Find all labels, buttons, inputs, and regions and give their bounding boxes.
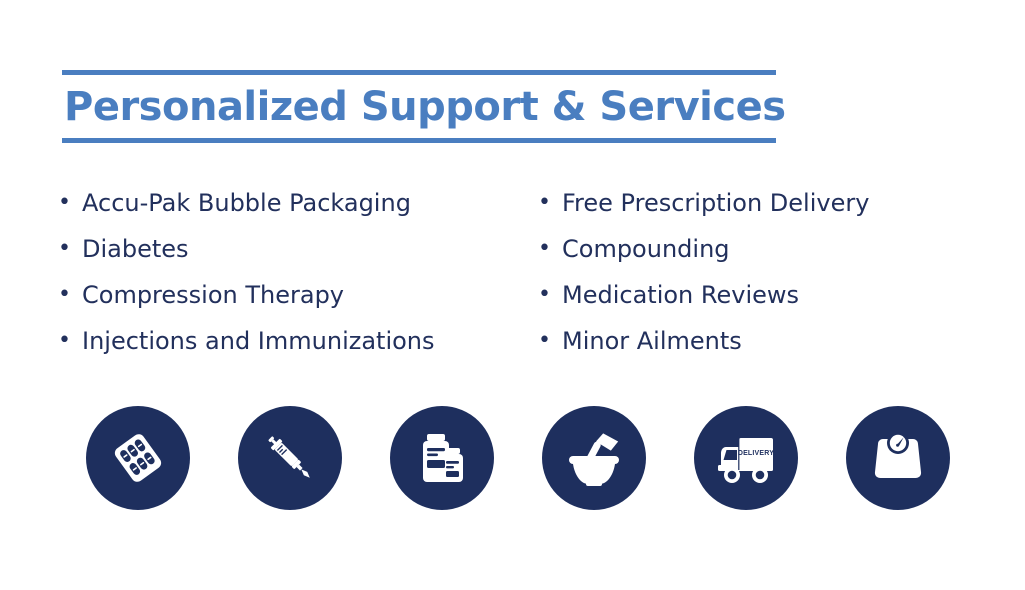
- icon-badge-mortar-pestle: [542, 406, 646, 510]
- list-item-label: Accu-Pak Bubble Packaging: [82, 189, 411, 217]
- services-icon-row: DELIVERY: [86, 406, 950, 510]
- list-item: • Medication Reviews: [536, 272, 976, 318]
- list-item: • Diabetes: [56, 226, 536, 272]
- blister-pack-icon: [106, 426, 170, 490]
- title-rule-top: [62, 70, 776, 75]
- list-item: • Compounding: [536, 226, 976, 272]
- icon-badge-pill-bottles: [390, 406, 494, 510]
- bullet-glyph: •: [58, 226, 71, 272]
- bullet-glyph: •: [538, 318, 551, 364]
- list-item-label: Minor Ailments: [562, 327, 742, 355]
- page-title: Personalized Support & Services: [62, 81, 776, 133]
- bullet-glyph: •: [58, 272, 71, 318]
- list-item: • Injections and Immunizations: [56, 318, 536, 364]
- list-item-label: Free Prescription Delivery: [562, 189, 869, 217]
- list-item-label: Compounding: [562, 235, 730, 263]
- list-item-label: Compression Therapy: [82, 281, 344, 309]
- list-item: • Accu-Pak Bubble Packaging: [56, 180, 536, 226]
- mortar-pestle-icon: [562, 426, 626, 490]
- bullet-glyph: •: [538, 272, 551, 318]
- list-item-label: Injections and Immunizations: [82, 327, 435, 355]
- bullet-glyph: •: [538, 226, 551, 272]
- delivery-truck-icon: DELIVERY: [713, 425, 779, 491]
- list-item-label: Medication Reviews: [562, 281, 799, 309]
- bullet-glyph: •: [538, 180, 551, 226]
- list-item-label: Diabetes: [82, 235, 189, 263]
- title-block: Personalized Support & Services: [62, 70, 776, 143]
- truck-delivery-label: DELIVERY: [738, 450, 774, 457]
- services-column-left: • Accu-Pak Bubble Packaging • Diabetes •…: [56, 180, 536, 364]
- services-panel: Personalized Support & Services • Accu-P…: [0, 0, 1025, 590]
- syringe-icon: [258, 426, 322, 490]
- list-item: • Minor Ailments: [536, 318, 976, 364]
- icon-badge-blister-pack: [86, 406, 190, 510]
- services-lists: • Accu-Pak Bubble Packaging • Diabetes •…: [56, 180, 976, 364]
- weight-scale-icon: [866, 426, 930, 490]
- icon-badge-syringe: [238, 406, 342, 510]
- bullet-glyph: •: [58, 318, 71, 364]
- icon-badge-weight-scale: [846, 406, 950, 510]
- icon-badge-delivery-truck: DELIVERY: [694, 406, 798, 510]
- list-item: • Free Prescription Delivery: [536, 180, 976, 226]
- pill-bottles-icon: [410, 426, 474, 490]
- services-column-right: • Free Prescription Delivery • Compoundi…: [536, 180, 976, 364]
- bullet-glyph: •: [58, 180, 71, 226]
- list-item: • Compression Therapy: [56, 272, 536, 318]
- title-rule-bottom: [62, 138, 776, 143]
